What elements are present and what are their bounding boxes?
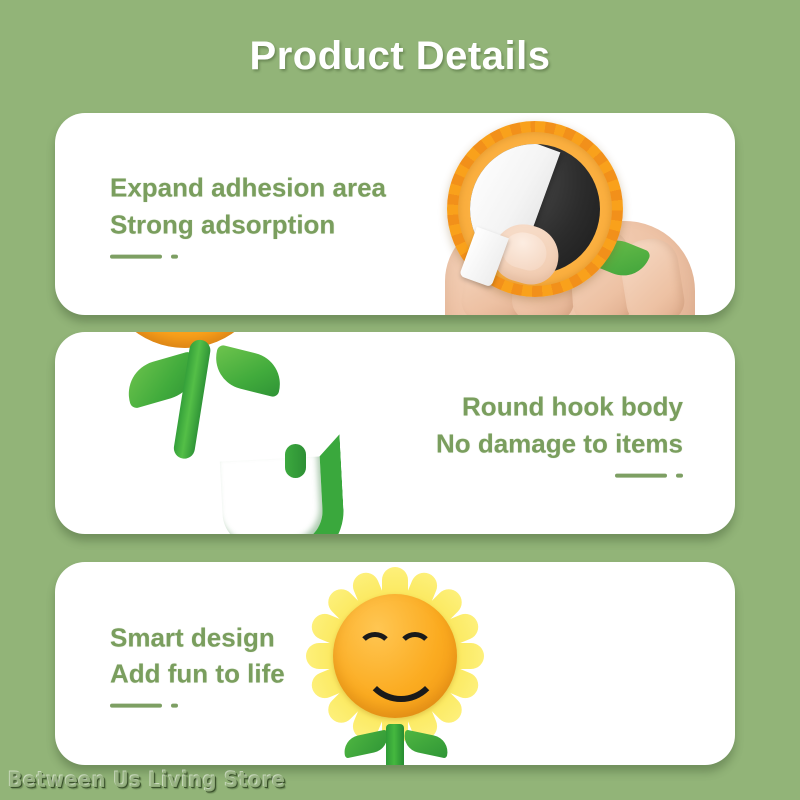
card-subline: Strong adsorption: [110, 207, 386, 244]
stem-leaf-right-shape: [209, 344, 286, 398]
hook-tip-shape: [285, 444, 306, 478]
underline-dot: [676, 473, 683, 477]
hook-curve-shape: [198, 434, 347, 534]
sunflower-eye-right: [397, 632, 433, 657]
green-stem-hook-image: [73, 332, 373, 534]
card-text-block: Round hook body No damage to items: [436, 389, 683, 478]
card-subline: Add fun to life: [110, 656, 285, 693]
underline-bar: [615, 473, 667, 477]
underline-dot: [171, 254, 178, 258]
product-detail-card-expand-adhesion: Expand adhesion area Strong adsorption: [55, 113, 735, 315]
decorative-underline: [436, 473, 683, 477]
underline-bar: [110, 254, 162, 258]
hand-holding-adhesive-disc-image: [405, 113, 735, 315]
store-watermark: Between Us Living Store: [8, 768, 286, 792]
underline-dot: [171, 704, 178, 708]
sunflower-smile-mouth: [361, 656, 441, 702]
orange-flower-head-shape: [101, 332, 269, 348]
decorative-underline: [110, 254, 386, 258]
card-headline: Expand adhesion area: [110, 170, 386, 207]
product-detail-card-smart-design: Smart design Add fun to life: [55, 562, 735, 765]
sunflower-eye-left: [357, 632, 393, 657]
sunflower-face: [333, 594, 457, 718]
product-detail-card-round-hook-body: Round hook body No damage to items: [55, 332, 735, 534]
sunflower-stem-shape: [386, 724, 404, 765]
card-headline: Round hook body: [436, 389, 683, 426]
card-subline: No damage to items: [436, 426, 683, 463]
card-text-block: Smart design Add fun to life: [110, 619, 285, 708]
card-text-block: Expand adhesion area Strong adsorption: [110, 170, 386, 259]
card-headline: Smart design: [110, 619, 285, 656]
decorative-underline: [110, 704, 285, 708]
page-title: Product Details: [0, 34, 800, 79]
smiling-sunflower-hook-image: [283, 566, 507, 765]
underline-bar: [110, 704, 162, 708]
